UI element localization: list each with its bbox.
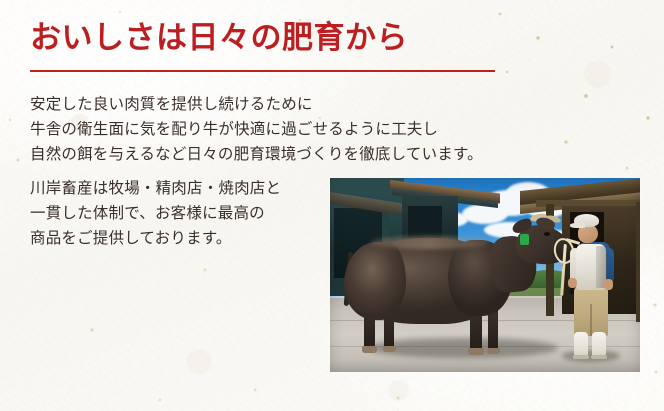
cow-back-highlight — [370, 236, 490, 249]
farm-photo — [330, 178, 640, 372]
farmer-hand — [604, 279, 613, 290]
boot-sole — [591, 355, 607, 359]
boot-sole — [573, 355, 589, 359]
cow-ear-tag — [520, 234, 529, 245]
cow-hoof — [383, 346, 396, 352]
cow-shadow — [368, 338, 558, 358]
farmer-trousers-seam — [590, 304, 592, 336]
farmer-hand — [568, 278, 577, 288]
farmer-cap-brim — [570, 223, 585, 228]
cow-hoof — [362, 346, 377, 353]
cow-hoof — [487, 348, 500, 354]
cow-eye — [544, 232, 550, 236]
title-underline-rule — [30, 70, 495, 72]
body-paragraph-1: 安定した良い肉質を提供し続けるために 牛舎の衛生面に気を配り牛が快適に過ごせるよ… — [30, 92, 483, 167]
cow-rump — [344, 242, 406, 320]
shed-post — [636, 202, 640, 322]
cow-hoof — [468, 348, 484, 355]
promotional-panel: おいしさは日々の肥育から 安定した良い肉質を提供し続けるために 牛舎の衛生面に気… — [0, 0, 664, 411]
page-title: おいしさは日々の肥育から — [30, 23, 408, 54]
body-paragraph-2: 川岸畜産は牧場・精肉店・焼肉店と 一貫した体制で、お客様に最高の 商品をご提供し… — [30, 176, 281, 251]
cloud-shape — [462, 204, 508, 224]
